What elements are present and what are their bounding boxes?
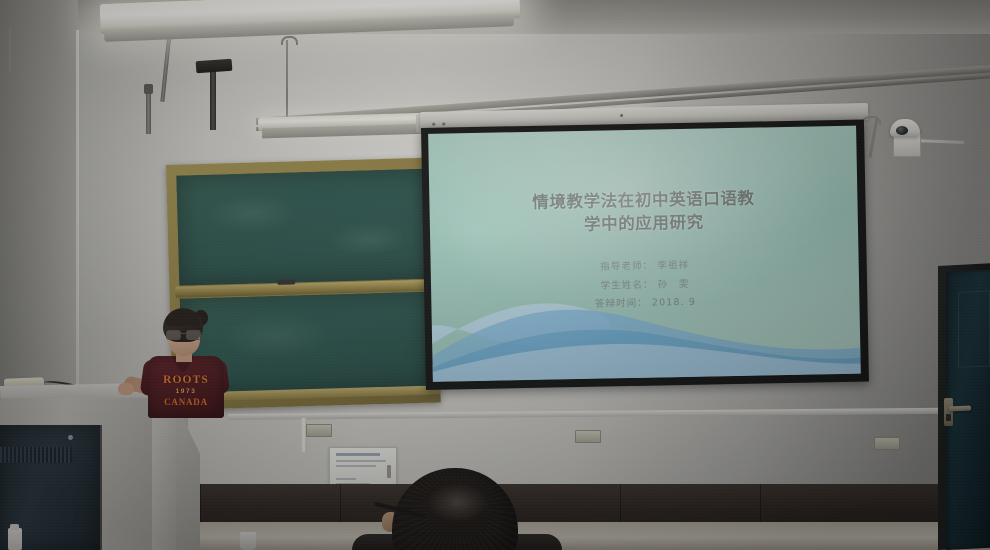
chalk-smudge: [328, 221, 409, 257]
bottle-cap: [10, 524, 19, 530]
ceiling-wire-anchor: [281, 36, 298, 45]
presenter-glasses-icon: [166, 330, 202, 338]
glasses-bridge: [179, 333, 186, 334]
wall-outlet[interactable]: [306, 424, 332, 437]
glasses-left-lens: [166, 330, 181, 340]
glasses-right-lens: [186, 330, 201, 340]
projector-mount-pole: [210, 64, 216, 130]
slide-title: 情境教学法在初中英语口语教 学中的应用研究: [429, 186, 858, 240]
chalk-smudge: [207, 192, 298, 234]
door-panel-inset: [958, 290, 990, 368]
door-keyhole-icon: [946, 414, 951, 421]
shirt-print-year: 1973: [148, 388, 224, 395]
door-handle[interactable]: [949, 406, 971, 412]
water-bottle[interactable]: [8, 528, 22, 550]
slide-meta-block: 指导老师： 李祖祥 学生姓名： 孙 雯 答辩时间： 2018. 9: [431, 254, 860, 318]
blackboard-upper-panel: [176, 169, 431, 286]
ceiling-wire-left: [9, 28, 11, 72]
chalk-eraser: [277, 279, 295, 285]
projection-screen[interactable]: 情境教学法在初中英语口语教 学中的应用研究 指导老师： 李祖祥 学生姓名： 孙 …: [421, 119, 869, 389]
wall-outlet[interactable]: [575, 430, 601, 443]
tower-vent-grille: [0, 447, 72, 463]
presenter-hand: [118, 383, 134, 395]
panel-switch[interactable]: [387, 465, 391, 478]
projected-slide: 情境教学法在初中英语口语教 学中的应用研究 指导老师： 李祖祥 学生姓名： 孙 …: [428, 126, 861, 382]
ceiling-wire: [286, 40, 288, 118]
classroom-photo: 情境教学法在初中英语口语教 学中的应用研究 指导老师： 李祖祥 学生姓名： 孙 …: [0, 0, 990, 550]
projector-mount-head: [196, 59, 233, 73]
door-lock-plate[interactable]: [944, 398, 953, 426]
tower-lock-knob[interactable]: [68, 435, 73, 440]
shirt-print-country: CANADA: [148, 397, 224, 407]
chalk-smudge: [220, 312, 331, 361]
wall-outlet[interactable]: [874, 437, 900, 450]
presenter-hair-front: [166, 310, 200, 326]
ceiling-drop-rod: [146, 90, 151, 134]
camera-lens-icon: [896, 126, 908, 135]
panel-label-bar: [336, 453, 380, 456]
ceiling-drop-rod-cap: [144, 84, 153, 94]
paper-cup[interactable]: [240, 532, 256, 550]
shirt-print-brand: ROOTS: [148, 374, 224, 386]
